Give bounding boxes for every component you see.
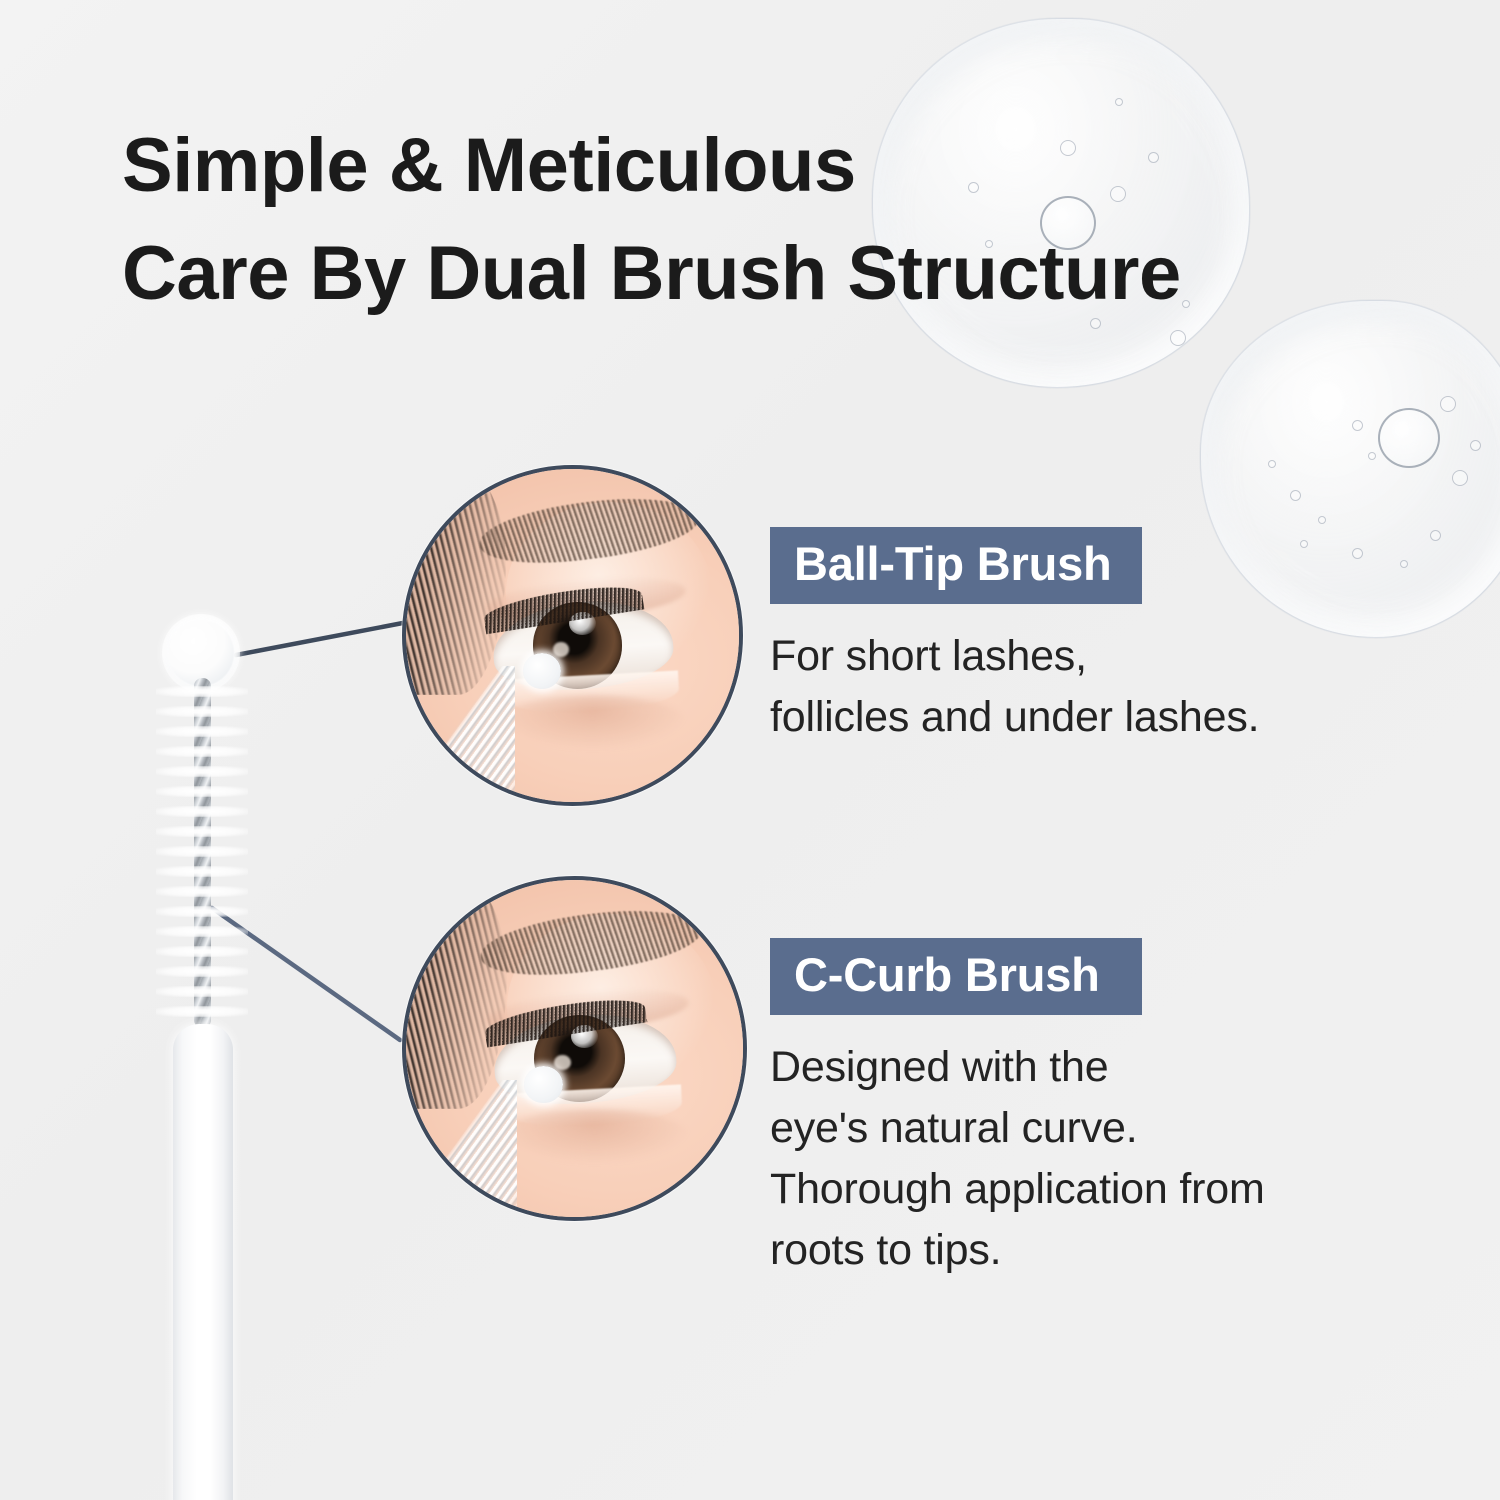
bubble-icon	[1400, 560, 1408, 568]
bristle-row	[156, 786, 248, 797]
bubble-icon	[1470, 440, 1481, 451]
page-title: Simple & Meticulous Care By Dual Brush S…	[122, 112, 1262, 328]
eye-closeup-illustration	[406, 880, 743, 1217]
bristle-row	[156, 726, 248, 737]
bristle-row	[156, 746, 248, 757]
bristle-row	[156, 686, 248, 697]
applicator-shaft	[442, 666, 515, 806]
photo-c-curb-brush	[402, 876, 747, 1221]
bristle-row	[156, 926, 248, 937]
bristle-row	[156, 946, 248, 957]
feature-description-c-curb: Designed with the eye's natural curve. T…	[770, 1037, 1370, 1281]
bubble-icon	[1290, 490, 1301, 501]
bristle-row	[156, 866, 248, 877]
bristle-row	[156, 966, 248, 977]
applicator-shaft	[442, 1080, 516, 1221]
brush-shaft	[183, 678, 221, 1028]
applicator-in-photo	[440, 1055, 568, 1221]
infographic-page: Simple & Meticulous Care By Dual Brush S…	[0, 0, 1500, 1500]
bristle-row	[156, 846, 248, 857]
bristle-row	[156, 706, 248, 717]
feature-block-ball-tip: Ball-Tip Brush For short lashes, follicl…	[770, 527, 1370, 748]
bubble-icon	[1430, 530, 1441, 541]
applicator-ball-tip	[524, 1066, 562, 1103]
brush-handle	[173, 1024, 233, 1500]
bristle-row	[156, 1006, 248, 1017]
ball-tip-head	[168, 620, 234, 686]
bristle-row	[156, 766, 248, 777]
bubble-icon	[1352, 420, 1363, 431]
feature-description-ball-tip: For short lashes, follicles and under la…	[770, 626, 1370, 748]
bubble-icon	[1318, 516, 1326, 524]
applicator-in-photo	[439, 642, 566, 806]
photo-ball-tip-brush	[402, 465, 743, 806]
bristle-row	[156, 906, 248, 917]
bristle-row	[156, 886, 248, 897]
eye-closeup-illustration	[406, 469, 739, 802]
feature-badge-c-curb: C-Curb Brush	[770, 938, 1142, 1015]
bubble-icon	[1268, 460, 1276, 468]
bristle-row	[156, 986, 248, 997]
dual-brush-product-image	[150, 612, 270, 1500]
feature-block-c-curb: C-Curb Brush Designed with the eye's nat…	[770, 938, 1370, 1281]
feature-badge-ball-tip: Ball-Tip Brush	[770, 527, 1142, 604]
droplet-bubble-ring-icon	[1378, 408, 1440, 468]
bristle-row	[156, 806, 248, 817]
applicator-ball-tip	[523, 653, 561, 689]
bubble-icon	[1170, 330, 1186, 346]
bubble-icon	[1440, 396, 1456, 412]
bubble-icon	[1368, 452, 1376, 460]
bristle-row	[156, 826, 248, 837]
bubble-icon	[1452, 470, 1468, 486]
bubble-icon	[1115, 98, 1123, 106]
